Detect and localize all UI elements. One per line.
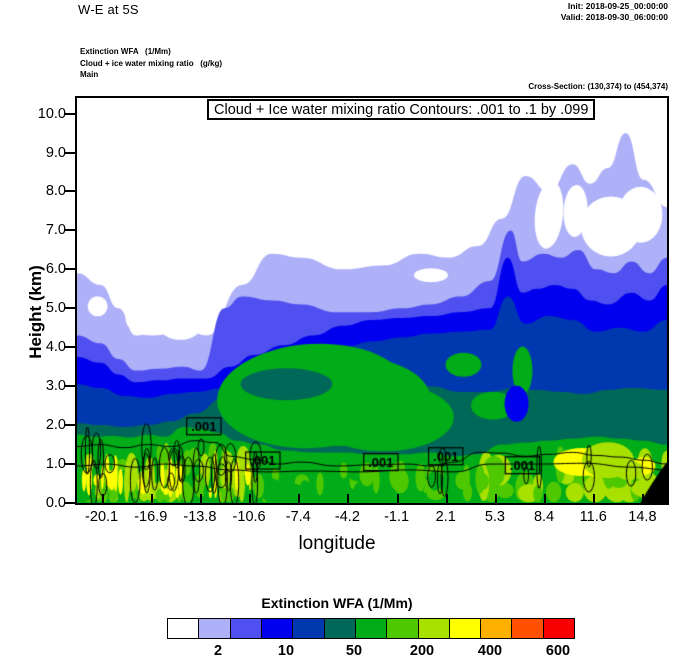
colorbar-tick-10: 10 — [278, 643, 294, 659]
x-tick-label-5: -4.2 — [335, 509, 360, 525]
y-tick-label-10.0: 10.0 — [38, 106, 66, 122]
x-tick-label-9: 8.4 — [534, 509, 554, 525]
x-tick-mark — [298, 494, 300, 504]
x-tick-label-10: 11.6 — [580, 509, 607, 525]
init-valid-block: Init: 2018-09-25_00:00:00 Valid: 2018-09… — [561, 1, 668, 23]
init-time: Init: 2018-09-25_00:00:00 — [561, 1, 668, 12]
cross-section-label: Cross-Section: (130,374) to (454,374) — [528, 82, 668, 91]
colorbar-swatch-9 — [450, 619, 481, 638]
x-tick-mark — [200, 494, 202, 504]
colorbar-tick-2: 2 — [214, 643, 222, 659]
x-tick-mark — [495, 494, 497, 504]
colorbar-swatch-1 — [199, 619, 230, 638]
y-tick-label-1.0: 1.0 — [46, 456, 66, 472]
y-tick-label-6.0: 6.0 — [46, 261, 66, 277]
colorbar-swatch-5 — [325, 619, 356, 638]
x-tick-mark — [397, 494, 399, 504]
y-axis-label: Height (km) — [26, 252, 46, 372]
colorbar-tick-50: 50 — [346, 643, 362, 659]
y-tick-label-7.0: 7.0 — [46, 222, 66, 238]
colorbar-swatch-11 — [512, 619, 543, 638]
x-tick-label-7: 2.1 — [436, 509, 456, 525]
plot-area — [75, 96, 669, 505]
field-description: Extinction WFA (1/Mm) Cloud + ice water … — [80, 46, 222, 81]
x-axis-label: longitude — [0, 533, 674, 555]
x-tick-mark — [249, 494, 251, 504]
colorbar-swatch-8 — [419, 619, 450, 638]
colorbar-swatch-3 — [262, 619, 293, 638]
colorbar-tick-600: 600 — [546, 643, 570, 659]
x-tick-mark — [347, 494, 349, 504]
colorbar-swatch-12 — [544, 619, 574, 638]
colorbar-swatch-4 — [293, 619, 324, 638]
x-tick-label-8: 5.3 — [485, 509, 505, 525]
colorbar-swatch-10 — [481, 619, 512, 638]
x-tick-mark — [642, 494, 644, 504]
colorbar-labels: 21050200400600 — [167, 643, 575, 663]
colorbar-swatch-2 — [231, 619, 262, 638]
colorbar-tick-400: 400 — [478, 643, 502, 659]
y-tick-label-5.0: 5.0 — [46, 300, 66, 316]
x-tick-mark — [446, 494, 448, 504]
y-tick-label-2.0: 2.0 — [46, 417, 66, 433]
colorbar-swatch-0 — [168, 619, 199, 638]
x-tick-mark — [151, 494, 153, 504]
page-title: W-E at 5S — [78, 2, 139, 17]
colorbar-title: Extinction WFA (1/Mm) — [0, 595, 674, 611]
colorbar-swatch-6 — [356, 619, 387, 638]
x-tick-label-11: 14.8 — [628, 509, 656, 525]
x-tick-label-4: -7.4 — [286, 509, 311, 525]
x-tick-label-3: -10.6 — [233, 509, 266, 525]
x-tick-mark — [544, 494, 546, 504]
colorbar — [167, 618, 575, 639]
contour-title-text: Cloud + Ice water mixing ratio Contours:… — [214, 102, 588, 118]
x-tick-label-2: -13.8 — [183, 509, 216, 525]
x-tick-mark — [593, 494, 595, 504]
y-tick-label-0.0: 0.0 — [46, 495, 66, 511]
x-tick-label-1: -16.9 — [134, 509, 167, 525]
x-tick-label-0: -20.1 — [85, 509, 118, 525]
colorbar-tick-200: 200 — [410, 643, 434, 659]
y-tick-label-3.0: 3.0 — [46, 378, 66, 394]
y-tick-label-9.0: 9.0 — [46, 145, 66, 161]
cross-section-field — [77, 98, 667, 503]
contour-title-box: Cloud + Ice water mixing ratio Contours:… — [207, 99, 595, 120]
y-tick-label-8.0: 8.0 — [46, 183, 66, 199]
x-tick-mark — [102, 494, 104, 504]
y-tick-label-4.0: 4.0 — [46, 339, 66, 355]
colorbar-swatch-7 — [387, 619, 418, 638]
valid-time: Valid: 2018-09-30_06:00:00 — [561, 12, 668, 23]
x-tick-label-6: -1.1 — [384, 509, 409, 525]
figure-root: W-E at 5S Init: 2018-09-25_00:00:00 Vali… — [0, 0, 674, 667]
